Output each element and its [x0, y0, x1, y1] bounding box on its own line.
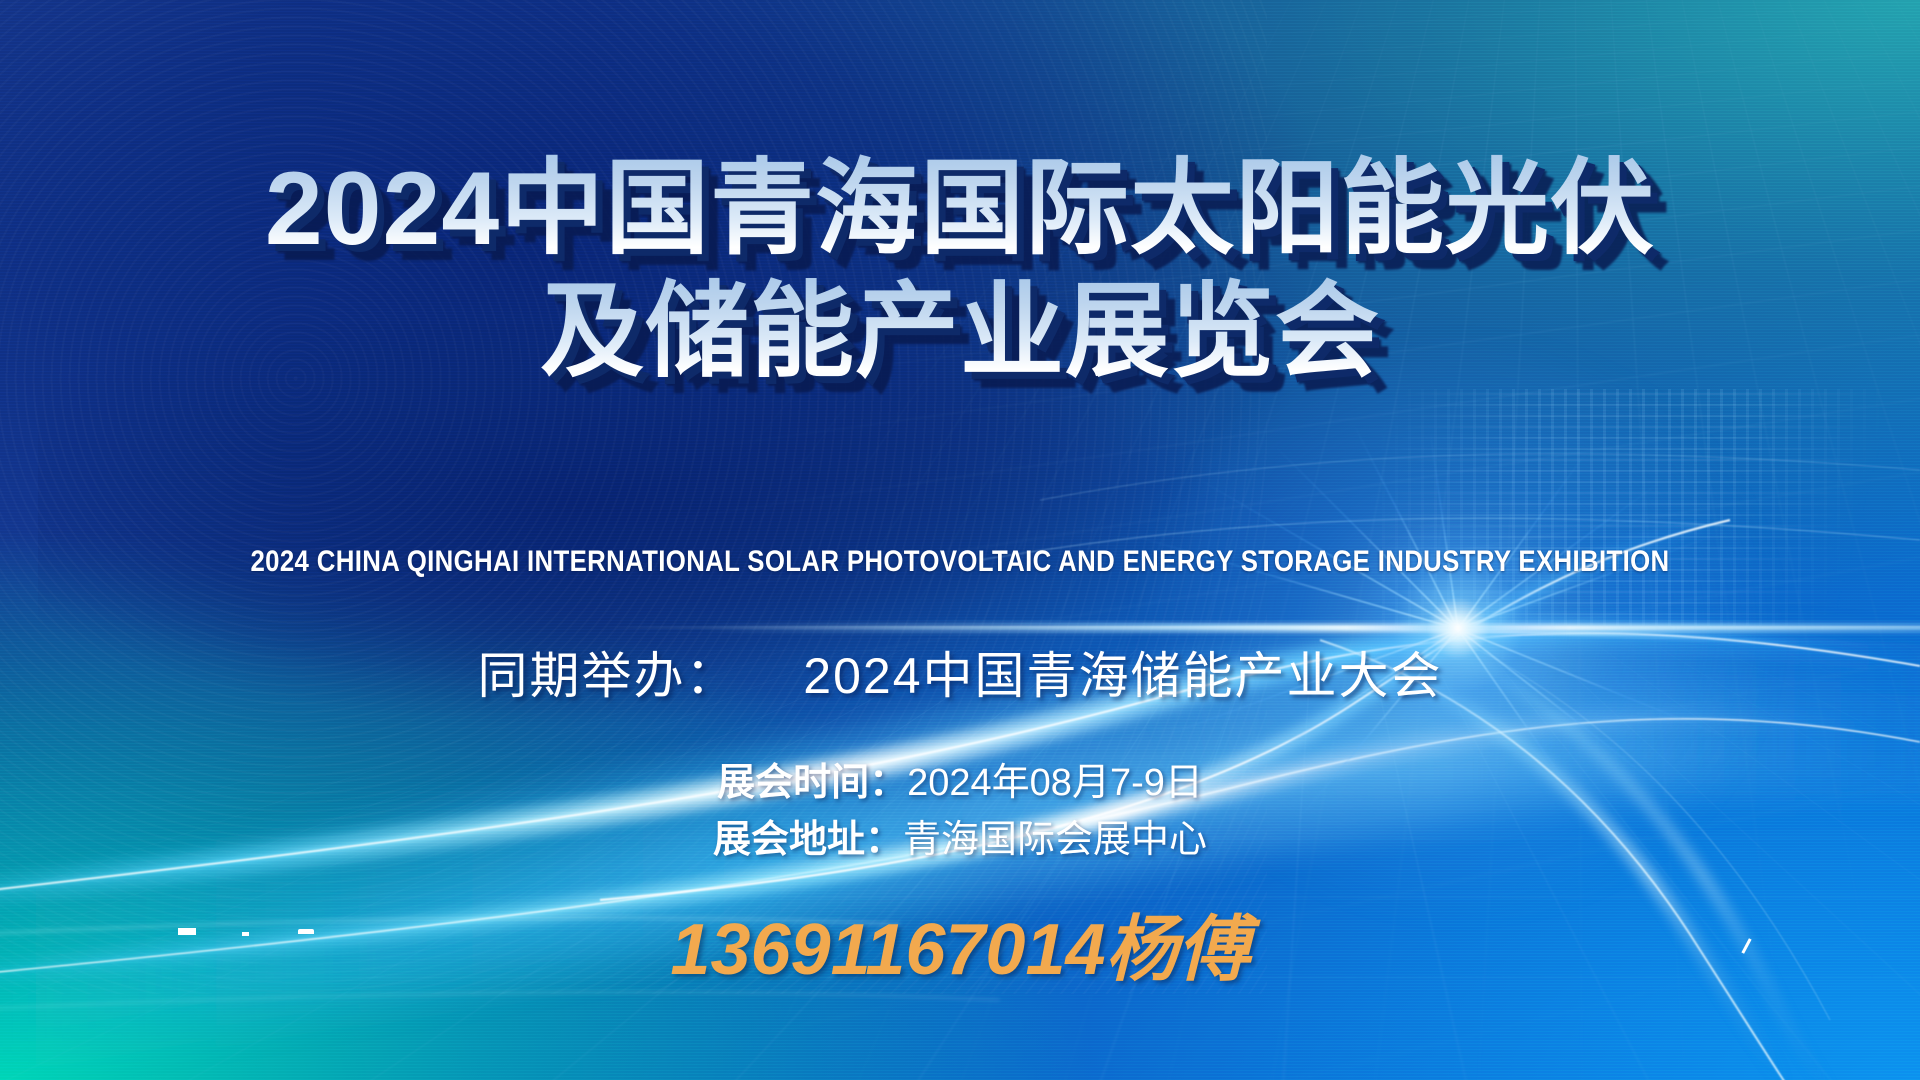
concurrent-event-name: 2024中国青海储能产业大会	[803, 648, 1442, 704]
main-title: 2024中国青海国际太阳能光伏 及储能产业展览会	[0, 150, 1920, 391]
banner-content: 2024中国青海国际太阳能光伏 及储能产业展览会 2024 CHINA QING…	[0, 0, 1920, 1080]
main-title-line-1: 2024中国青海国际太阳能光伏	[0, 150, 1920, 269]
event-venue-value: 青海国际会展中心	[903, 819, 1207, 861]
english-subtitle: 2024 CHINA QINGHAI INTERNATIONAL SOLAR P…	[134, 545, 1785, 579]
event-venue-label: 展会地址：	[713, 819, 903, 861]
concurrent-event-line: 同期举办： 2024中国青海储能产业大会	[0, 636, 1920, 708]
event-date-row: 展会时间：2024年08月7-9日	[0, 755, 1920, 812]
event-date-label: 展会时间：	[717, 762, 907, 804]
exhibition-banner: 2024中国青海国际太阳能光伏 及储能产业展览会 2024 CHINA QING…	[0, 0, 1920, 1080]
contact-phone-and-name: 13691167014杨傅	[0, 890, 1920, 995]
concurrent-label: 同期举办：	[477, 648, 737, 704]
event-venue-row: 展会地址：青海国际会展中心	[0, 812, 1920, 869]
event-date-value: 2024年08月7-9日	[907, 762, 1203, 804]
main-title-line-2: 及储能产业展览会	[0, 273, 1920, 392]
event-info-block: 展会时间：2024年08月7-9日 展会地址：青海国际会展中心	[0, 755, 1920, 869]
